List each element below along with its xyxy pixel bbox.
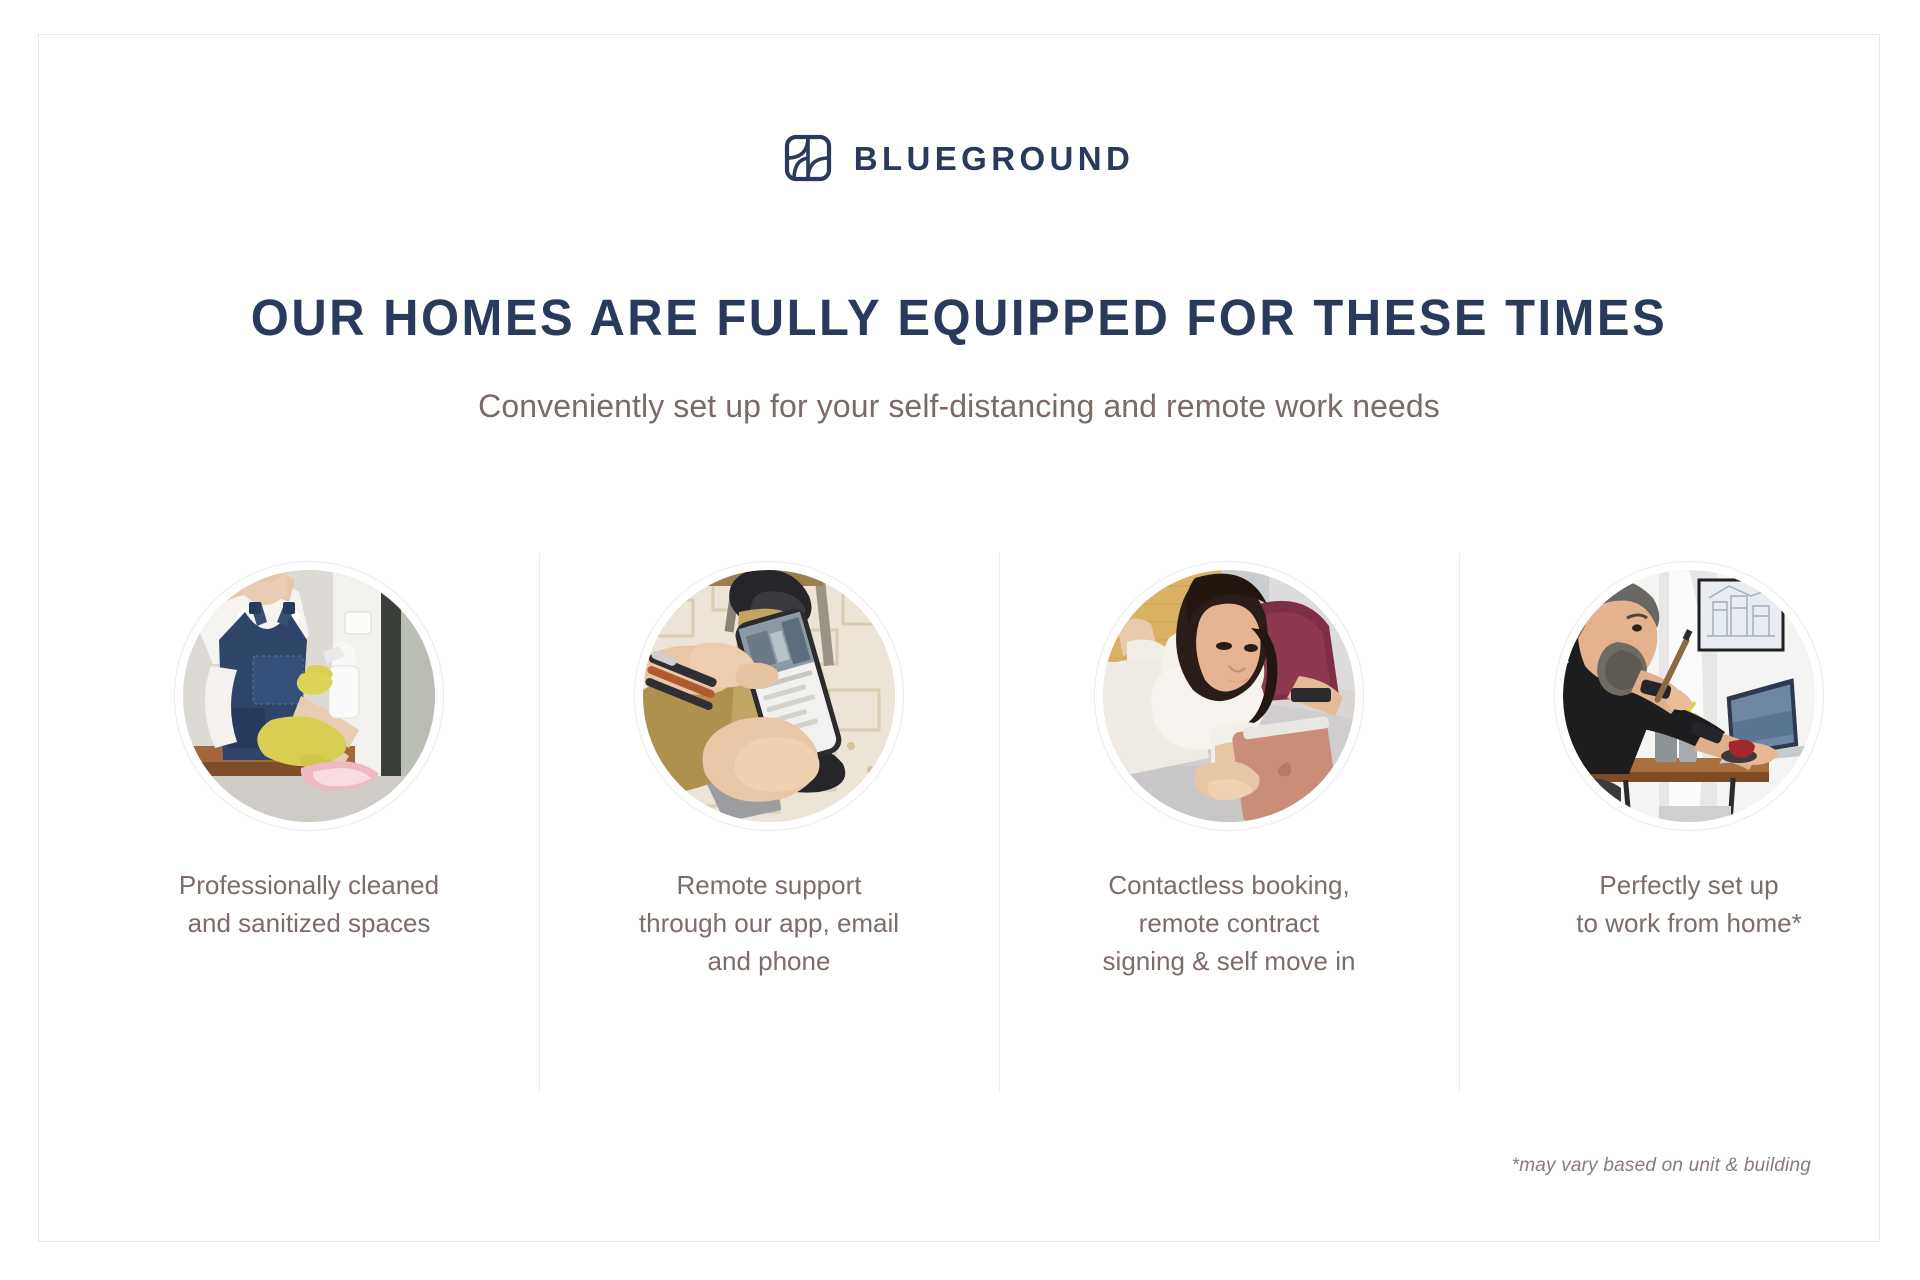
feature-image-frame bbox=[1103, 570, 1355, 822]
feature-image-frame bbox=[1563, 570, 1815, 822]
feature-column-remote-support: Remote support through our app, email an… bbox=[539, 553, 999, 1093]
feature-columns: Professionally cleaned and sanitized spa… bbox=[79, 553, 1919, 1093]
caption-line: through our app, email bbox=[639, 904, 899, 942]
feature-column-cleaning: Professionally cleaned and sanitized spa… bbox=[79, 553, 539, 1093]
photo-man-working-from-home-desk bbox=[1563, 570, 1815, 822]
feature-column-work-from-home: Perfectly set up to work from home* bbox=[1459, 553, 1919, 1093]
feature-image-frame bbox=[183, 570, 435, 822]
page-title: OUR HOMES ARE FULLY EQUIPPED FOR THESE T… bbox=[76, 290, 1842, 346]
poster-canvas: BLUEGROUND OUR HOMES ARE FULLY EQUIPPED … bbox=[0, 0, 1920, 1280]
caption-line: signing & self move in bbox=[1103, 942, 1356, 980]
page-subtitle: Conveniently set up for your self-distan… bbox=[39, 387, 1879, 425]
poster-frame: BLUEGROUND OUR HOMES ARE FULLY EQUIPPED … bbox=[38, 34, 1880, 1242]
caption-line: and sanitized spaces bbox=[179, 904, 439, 942]
brand-lockup: BLUEGROUND bbox=[39, 134, 1879, 182]
footnote-disclaimer: *may vary based on unit & building bbox=[1512, 1155, 1811, 1177]
photo-cleaner-sanitizing-counter bbox=[183, 570, 435, 822]
blueground-square-logo-icon bbox=[784, 134, 832, 182]
feature-caption: Perfectly set up to work from home* bbox=[1576, 866, 1801, 942]
feature-column-contactless-booking: Contactless booking, remote contract sig… bbox=[999, 553, 1459, 1093]
caption-line: Perfectly set up bbox=[1576, 866, 1801, 904]
caption-line: Contactless booking, bbox=[1103, 866, 1356, 904]
feature-image-frame bbox=[643, 570, 895, 822]
caption-line: Professionally cleaned bbox=[179, 866, 439, 904]
feature-caption: Contactless booking, remote contract sig… bbox=[1103, 866, 1356, 980]
caption-line: and phone bbox=[639, 942, 899, 980]
photo-hands-using-phone-app bbox=[643, 570, 895, 822]
photo-woman-on-bed-with-tablet bbox=[1103, 570, 1355, 822]
brand-wordmark: BLUEGROUND bbox=[854, 142, 1135, 175]
caption-line: remote contract bbox=[1103, 904, 1356, 942]
caption-line: Remote support bbox=[639, 866, 899, 904]
feature-caption: Remote support through our app, email an… bbox=[639, 866, 899, 980]
feature-caption: Professionally cleaned and sanitized spa… bbox=[179, 866, 439, 942]
caption-line: to work from home* bbox=[1576, 904, 1801, 942]
